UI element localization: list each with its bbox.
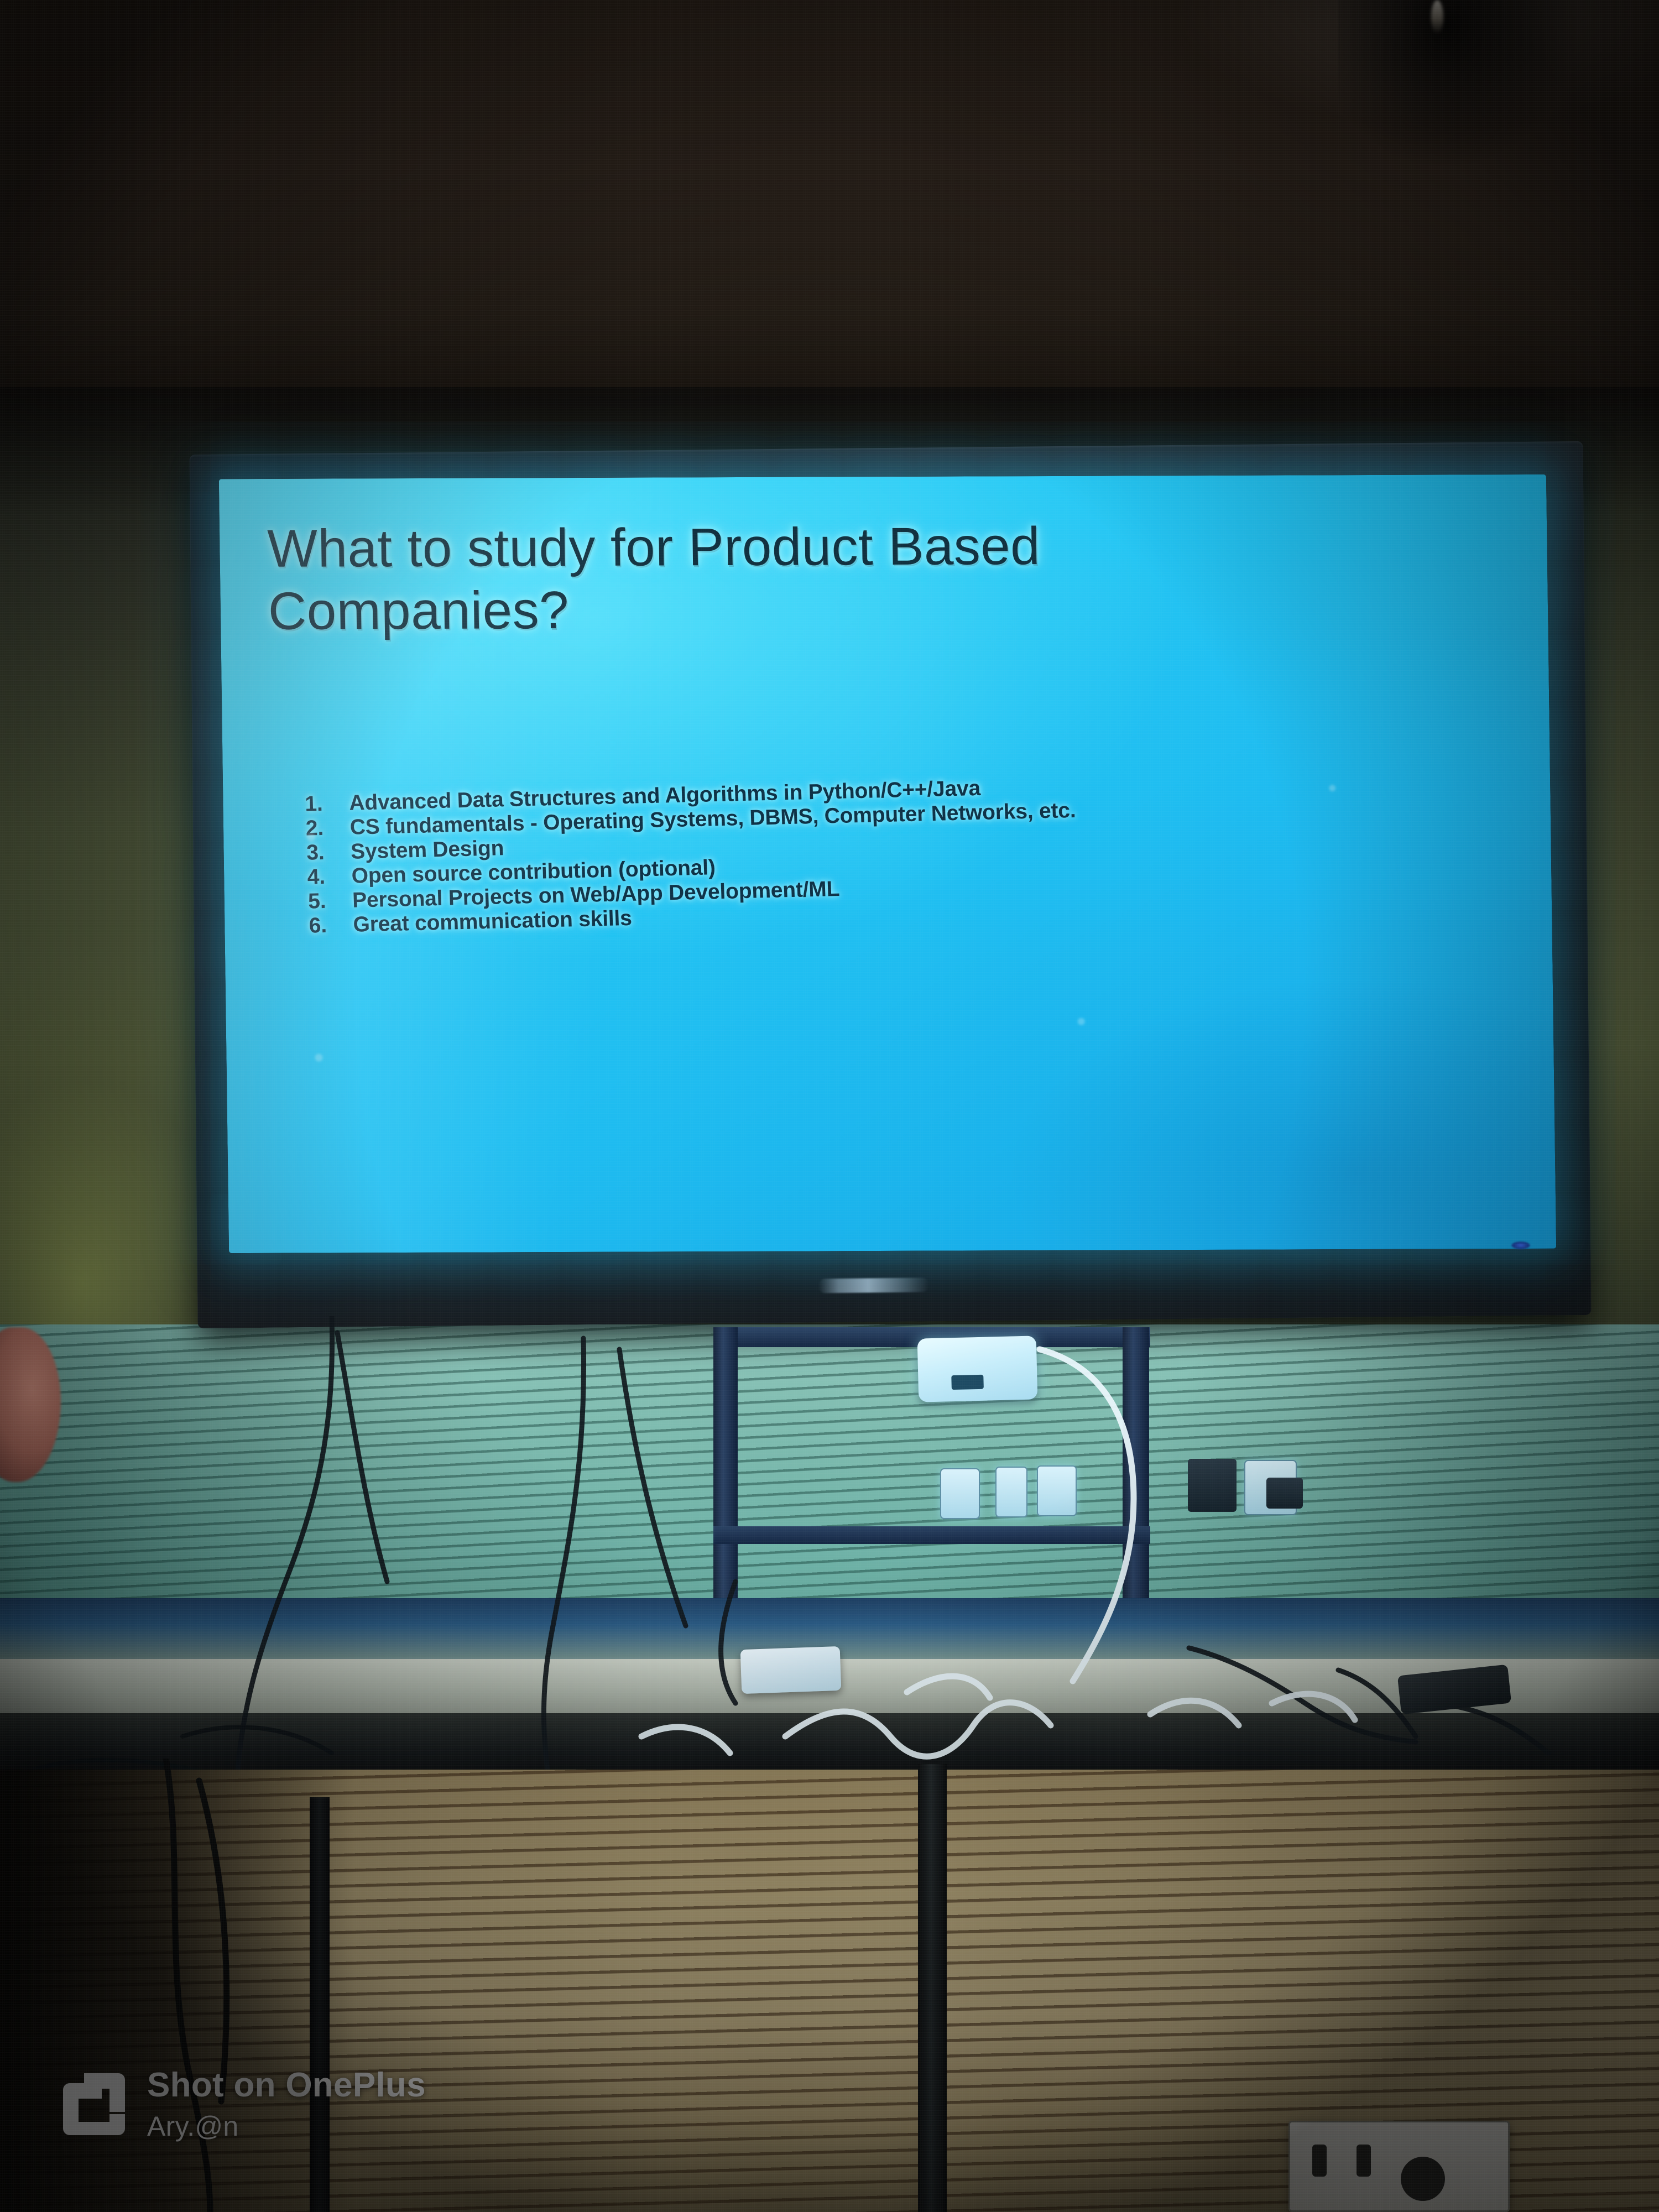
tv-screen[interactable]: What to study for Product Based Companie… bbox=[219, 474, 1556, 1253]
list-item-number: 4. bbox=[307, 865, 352, 888]
presentation-slide: What to study for Product Based Companie… bbox=[219, 474, 1556, 1253]
socket-slot bbox=[1357, 2145, 1371, 2177]
desk-connector-block bbox=[740, 1646, 842, 1694]
watermark-brand-line: Shot on OnePlus bbox=[147, 2065, 426, 2105]
room-scene: What to study for Product Based Companie… bbox=[0, 0, 1659, 2212]
tv-brand-logo bbox=[818, 1277, 929, 1293]
tv-power-led bbox=[1511, 1241, 1530, 1249]
screen-speck bbox=[315, 1054, 322, 1062]
screen-speck bbox=[1329, 785, 1335, 791]
television[interactable]: What to study for Product Based Companie… bbox=[180, 437, 1601, 1333]
screen-speck bbox=[1078, 1018, 1085, 1025]
wall-socket-plate[interactable] bbox=[1288, 2121, 1510, 2212]
oneplus-watermark: Shot on OnePlus Ary.@n bbox=[61, 2065, 426, 2142]
slide-title: What to study for Product Based Companie… bbox=[267, 514, 1319, 643]
list-item-number: 1. bbox=[305, 792, 349, 815]
ceiling-light-glint bbox=[1431, 0, 1443, 34]
oneplus-logo-icon bbox=[61, 2071, 127, 2137]
list-item-number: 3. bbox=[306, 841, 351, 864]
socket-slot bbox=[1312, 2145, 1327, 2177]
ceiling-shadow bbox=[1338, 0, 1576, 166]
watermark-text-block: Shot on OnePlus Ary.@n bbox=[147, 2065, 426, 2142]
ceiling bbox=[0, 0, 1659, 437]
watermark-author-line: Ary.@n bbox=[147, 2110, 426, 2142]
slide-bullet-list: 1. Advanced Data Structures and Algorith… bbox=[305, 775, 1079, 940]
list-item-number: 6. bbox=[309, 914, 353, 937]
screen-speck bbox=[306, 833, 315, 842]
socket-round bbox=[1401, 2157, 1445, 2201]
list-item-number: 5. bbox=[308, 890, 353, 912]
